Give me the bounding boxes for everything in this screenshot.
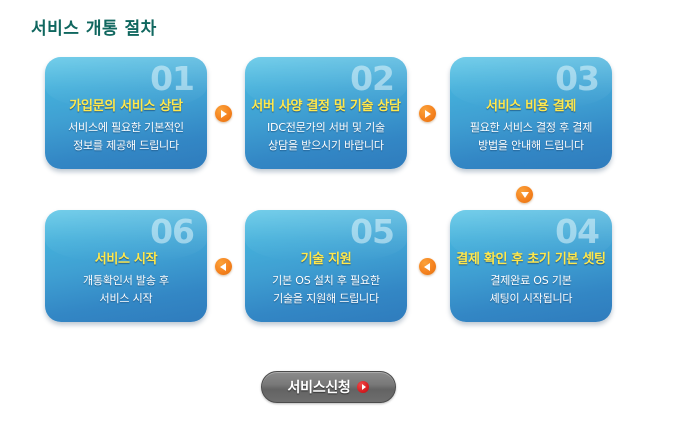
arrow-left-icon	[215, 258, 232, 275]
step-description-line1: IDC전문가의 서버 및 기술	[251, 119, 401, 137]
step-description: 필요한 서비스 결정 후 결제 방법을 안내해 드립니다	[456, 119, 606, 155]
step-description: 서비스에 필요한 기본적인 정보를 제공해 드립니다	[51, 119, 201, 155]
step-description-line1: 결제완료 OS 기본	[456, 272, 606, 290]
step-heading: 가입문의 서비스 상담	[45, 95, 207, 114]
step-description: IDC전문가의 서버 및 기술 상담을 받으시기 바랍니다	[251, 119, 401, 155]
step-description-line2: 서비스 시작	[51, 290, 201, 308]
arrow-right-icon	[215, 105, 232, 122]
step-description-line1: 필요한 서비스 결정 후 결제	[456, 119, 606, 137]
step-description-line1: 서비스에 필요한 기본적인	[51, 119, 201, 137]
step-description-line1: 기본 OS 설치 후 필요한	[251, 272, 401, 290]
step-card-05[interactable]: 05 기술 지원 기본 OS 설치 후 필요한 기술을 지원해 드립니다	[245, 210, 407, 322]
step-description: 기본 OS 설치 후 필요한 기술을 지원해 드립니다	[251, 272, 401, 308]
step-card-02[interactable]: 02 서버 사양 결정 및 기술 상담 IDC전문가의 서버 및 기술 상담을 …	[245, 57, 407, 169]
step-heading: 결제 확인 후 초기 기본 셋팅	[450, 248, 612, 267]
step-heading: 서버 사양 결정 및 기술 상담	[245, 95, 407, 114]
step-description-line2: 정보를 제공해 드립니다	[51, 137, 201, 155]
step-description-line2: 셰팅이 시작됩니다	[456, 290, 606, 308]
service-apply-label: 서비스신청	[288, 377, 351, 397]
step-number: 06	[150, 213, 194, 251]
step-card-01[interactable]: 01 가입문의 서비스 상담 서비스에 필요한 기본적인 정보를 제공해 드립니…	[45, 57, 207, 169]
arrow-right-icon	[419, 105, 436, 122]
step-number: 01	[150, 60, 194, 98]
step-description: 개통확인서 발송 후 서비스 시작	[51, 272, 201, 308]
step-number: 04	[555, 213, 599, 251]
step-number: 03	[555, 60, 599, 98]
play-circle-icon	[357, 381, 369, 393]
step-description-line2: 기술을 지원해 드립니다	[251, 290, 401, 308]
step-description: 결제완료 OS 기본 셰팅이 시작됩니다	[456, 272, 606, 308]
step-heading: 서비스 비용 결제	[450, 95, 612, 114]
step-description-line2: 상담을 받으시기 바랍니다	[251, 137, 401, 155]
step-heading: 기술 지원	[245, 248, 407, 267]
step-number: 02	[350, 60, 394, 98]
arrow-left-icon	[419, 258, 436, 275]
step-description-line2: 방법을 안내해 드립니다	[456, 137, 606, 155]
arrow-down-icon	[516, 186, 533, 203]
step-card-03[interactable]: 03 서비스 비용 결제 필요한 서비스 결정 후 결제 방법을 안내해 드립니…	[450, 57, 612, 169]
step-card-06[interactable]: 06 서비스 시작 개통확인서 발송 후 서비스 시작	[45, 210, 207, 322]
step-card-04[interactable]: 04 결제 확인 후 초기 기본 셋팅 결제완료 OS 기본 셰팅이 시작됩니다	[450, 210, 612, 322]
step-heading: 서비스 시작	[45, 248, 207, 267]
step-description-line1: 개통확인서 발송 후	[51, 272, 201, 290]
step-number: 05	[350, 213, 394, 251]
service-apply-button[interactable]: 서비스신청	[261, 371, 396, 403]
